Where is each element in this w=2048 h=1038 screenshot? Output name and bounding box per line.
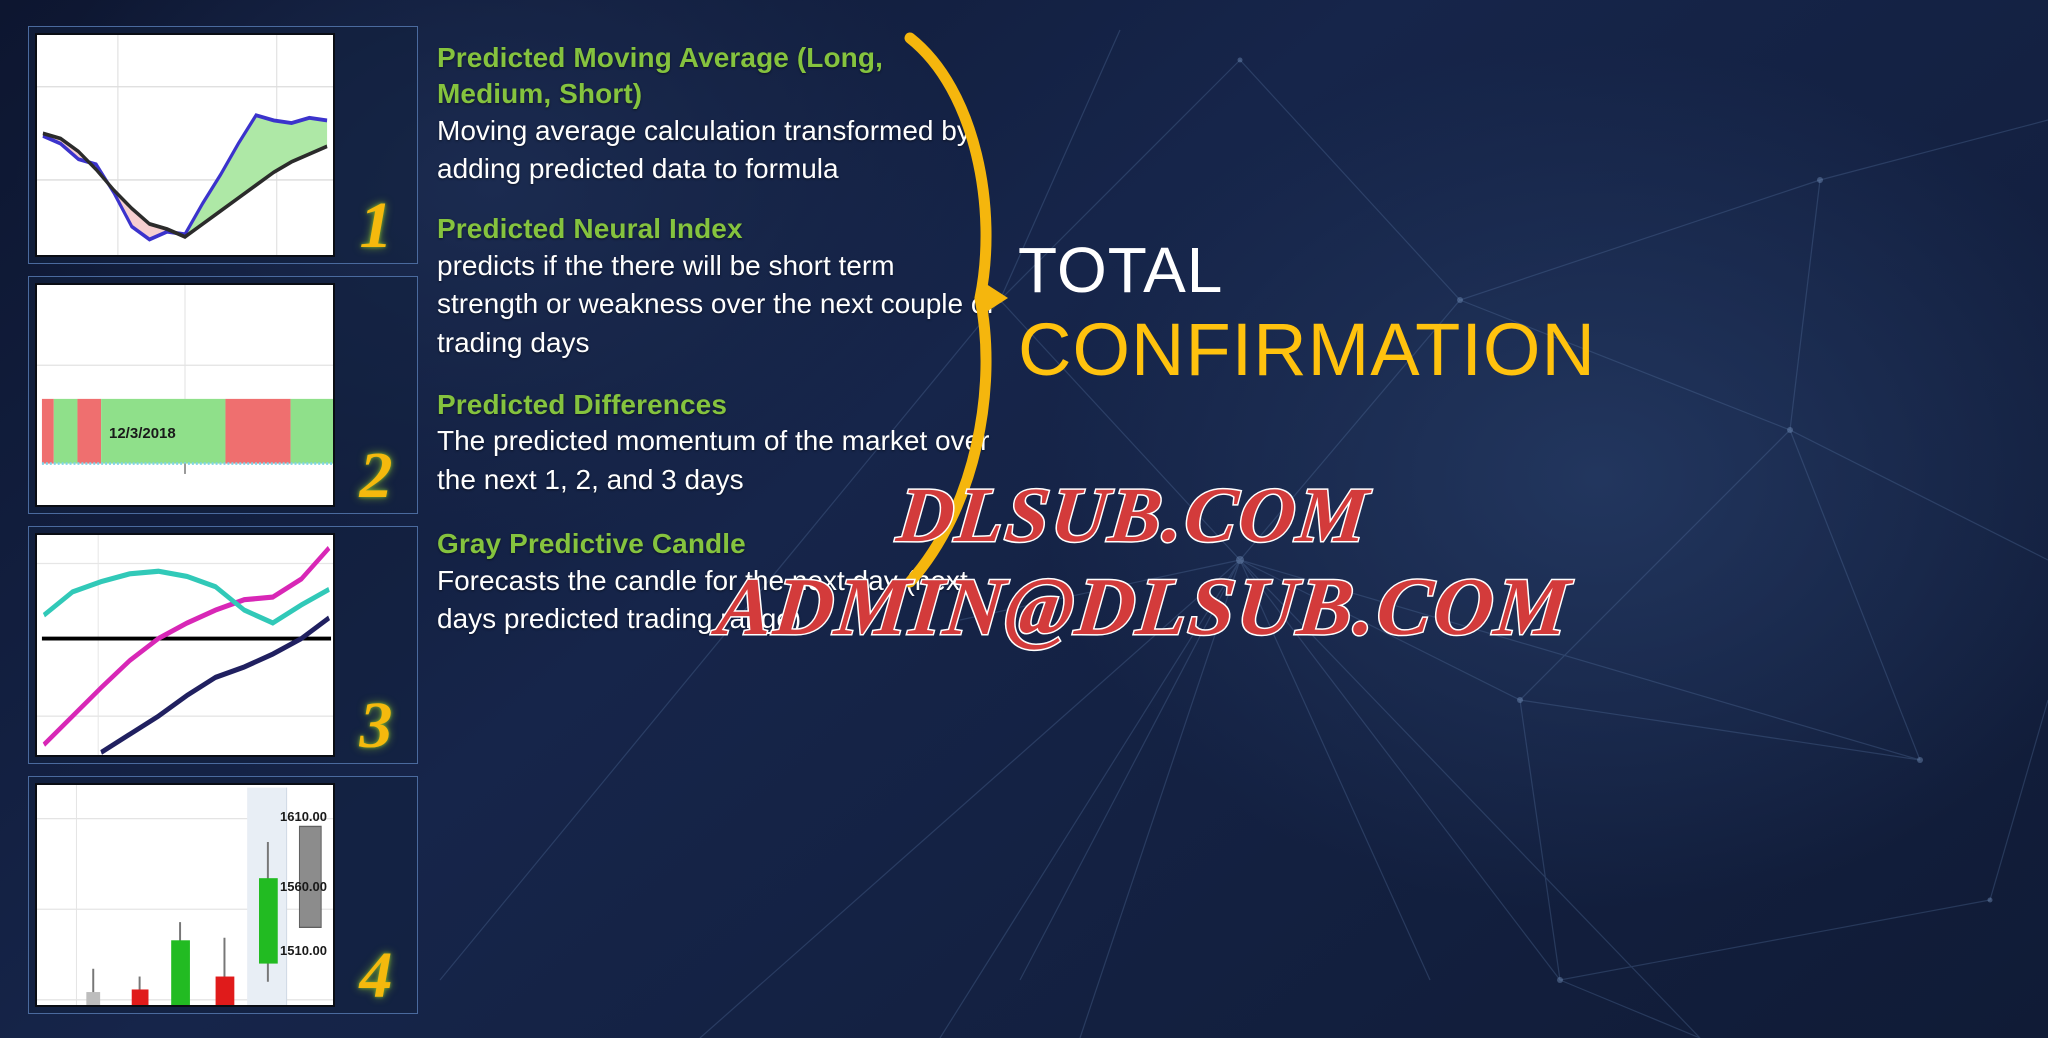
panel-number-container: 2 bbox=[335, 277, 417, 513]
candle-y-tick-1: 1610.00 bbox=[280, 809, 327, 824]
predicted-candle bbox=[299, 826, 321, 927]
panel-number: 3 bbox=[360, 693, 393, 759]
chart-panel-list: 1 12/3/20 bbox=[28, 26, 418, 1014]
candle-y-tick-2: 1560.00 bbox=[280, 879, 327, 894]
predicted-differences-plot bbox=[37, 535, 333, 755]
panel-number-container: 4 bbox=[335, 777, 417, 1013]
chart-predicted-differences bbox=[35, 533, 335, 757]
panel-number: 1 bbox=[360, 193, 393, 259]
panel-predicted-moving-average[interactable]: 1 bbox=[28, 26, 418, 264]
candle-y-tick-3: 1510.00 bbox=[280, 943, 327, 958]
chart-predicted-neural-index: 12/3/2018 bbox=[35, 283, 335, 507]
neural-index-bars bbox=[42, 399, 333, 464]
total-confirmation-callout: TOTAL CONFIRMATION bbox=[1018, 238, 2028, 392]
panel-number: 4 bbox=[360, 943, 393, 1009]
panel-predicted-neural-index[interactable]: 12/3/2018 2 bbox=[28, 276, 418, 514]
chart-gray-predictive-candle: 1610.00 1560.00 1510.00 bbox=[35, 783, 335, 1007]
moving-average-plot bbox=[37, 35, 333, 255]
callout-line-confirmation: CONFIRMATION bbox=[1018, 309, 2028, 392]
watermark-site: DLSUB.COM bbox=[893, 470, 1373, 560]
panel-gray-predictive-candle[interactable]: 1610.00 1560.00 1510.00 4 bbox=[28, 776, 418, 1014]
neural-index-date-label: 12/3/2018 bbox=[109, 425, 176, 442]
neural-index-plot bbox=[37, 285, 333, 505]
panel-number-container: 3 bbox=[335, 527, 417, 763]
watermark-email: ADMIN@DLSUB.COM bbox=[713, 560, 1575, 654]
panel-predicted-differences[interactable]: 3 bbox=[28, 526, 418, 764]
panel-number: 2 bbox=[360, 443, 393, 509]
chart-predicted-moving-average bbox=[35, 33, 335, 257]
callout-line-total: TOTAL bbox=[1018, 238, 2028, 303]
panel-number-container: 1 bbox=[335, 27, 417, 263]
